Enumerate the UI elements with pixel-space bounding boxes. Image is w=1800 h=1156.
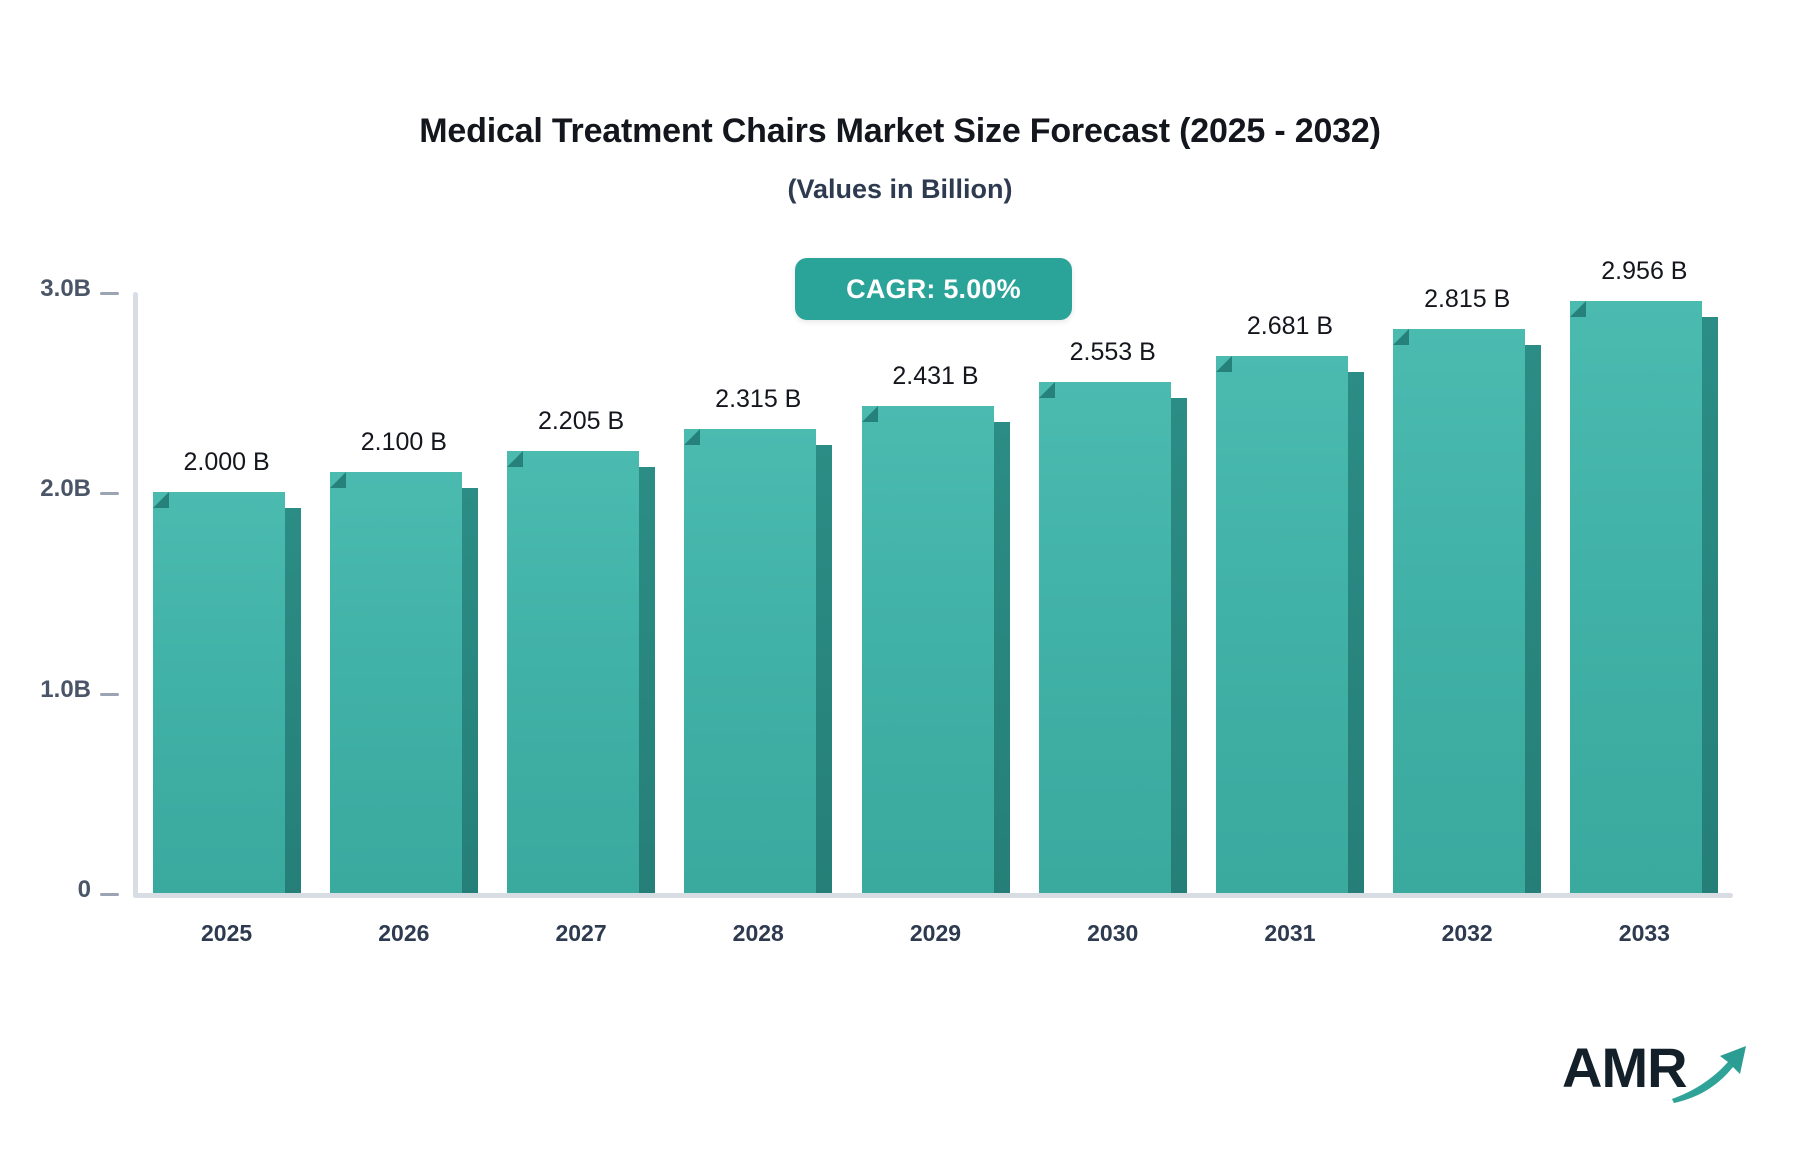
y-axis-tick: 3.0B <box>0 292 133 294</box>
bar <box>1216 356 1364 893</box>
bar-side-face <box>1348 372 1364 893</box>
bar-top-chamfer <box>1393 329 1409 345</box>
cagr-badge: CAGR: 5.00% <box>795 258 1072 320</box>
bar-front-face <box>330 472 462 893</box>
chart-canvas: Medical Treatment Chairs Market Size For… <box>0 0 1800 1156</box>
bar <box>684 429 832 893</box>
bar <box>330 472 478 893</box>
bar-top-chamfer <box>330 472 346 488</box>
y-axis-tick-mark <box>100 492 119 495</box>
x-axis-label: 2032 <box>1379 920 1556 947</box>
x-axis-line <box>133 893 1733 898</box>
y-axis-tick-mark <box>100 693 119 696</box>
x-axis-label: 2027 <box>492 920 669 947</box>
y-axis-tick-label: 1.0B <box>40 676 91 704</box>
cagr-badge-label: CAGR: 5.00% <box>846 274 1021 305</box>
bar-side-face <box>994 422 1010 893</box>
x-axis-label: 2026 <box>315 920 492 947</box>
x-axis-label: 2028 <box>670 920 847 947</box>
bar-front-face <box>862 406 994 893</box>
bar-side-face <box>639 467 655 893</box>
bar <box>1039 382 1187 893</box>
bar-side-face <box>1525 345 1541 893</box>
x-axis-label: 2029 <box>847 920 1024 947</box>
bar-front-face <box>1216 356 1348 893</box>
growth-arrow-icon <box>1670 1042 1748 1104</box>
amr-logo-text: AMR <box>1562 1040 1687 1096</box>
bar-value-label: 2.100 B <box>305 428 502 457</box>
y-axis-line <box>133 292 138 898</box>
plot-area: 3.0B2.0B1.0B0 2.000 B2.100 B2.205 B2.315… <box>0 0 1800 1156</box>
bar <box>1393 329 1541 893</box>
bar <box>507 451 655 893</box>
y-axis-tick-label: 2.0B <box>40 475 91 503</box>
x-axis-label: 2030 <box>1024 920 1201 947</box>
y-axis-tick: 2.0B <box>0 492 133 494</box>
bar-top-chamfer <box>1216 356 1232 372</box>
bar-top-chamfer <box>1570 301 1586 317</box>
y-axis-tick: 0 <box>0 893 133 895</box>
bar-top-chamfer <box>684 429 700 445</box>
bar-front-face <box>1570 301 1702 893</box>
bar-side-face <box>1702 317 1718 893</box>
bar-value-label: 2.205 B <box>482 407 679 436</box>
bar-side-face <box>816 445 832 893</box>
bar-front-face <box>684 429 816 893</box>
bar-front-face <box>507 451 639 893</box>
bar-front-face <box>1039 382 1171 893</box>
y-axis-tick-mark <box>100 893 119 896</box>
bar-front-face <box>1393 329 1525 893</box>
bar-front-face <box>153 492 285 893</box>
bar <box>1570 301 1718 893</box>
bar-side-face <box>285 508 301 893</box>
y-axis-tick-mark <box>100 292 119 295</box>
x-axis-label: 2031 <box>1201 920 1378 947</box>
y-axis-tick: 1.0B <box>0 693 133 695</box>
bar-value-label: 2.956 B <box>1546 257 1743 286</box>
bar-value-label: 2.431 B <box>837 362 1034 391</box>
bar-value-label: 2.815 B <box>1369 285 1566 314</box>
bar-value-label: 2.553 B <box>1014 338 1211 367</box>
amr-logo: AMR <box>1562 1028 1742 1114</box>
bar <box>153 492 301 893</box>
y-axis-tick-label: 3.0B <box>40 275 91 303</box>
x-axis-label: 2025 <box>138 920 315 947</box>
bar-top-chamfer <box>507 451 523 467</box>
bar-value-label: 2.000 B <box>128 448 325 477</box>
bar-value-label: 2.681 B <box>1191 312 1388 341</box>
bar-top-chamfer <box>862 406 878 422</box>
bar-value-label: 2.315 B <box>660 385 857 414</box>
bar <box>862 406 1010 893</box>
bar-side-face <box>462 488 478 893</box>
bar-top-chamfer <box>153 492 169 508</box>
x-axis-label: 2033 <box>1556 920 1733 947</box>
bar-top-chamfer <box>1039 382 1055 398</box>
bar-side-face <box>1171 398 1187 893</box>
y-axis-tick-label: 0 <box>78 876 91 904</box>
